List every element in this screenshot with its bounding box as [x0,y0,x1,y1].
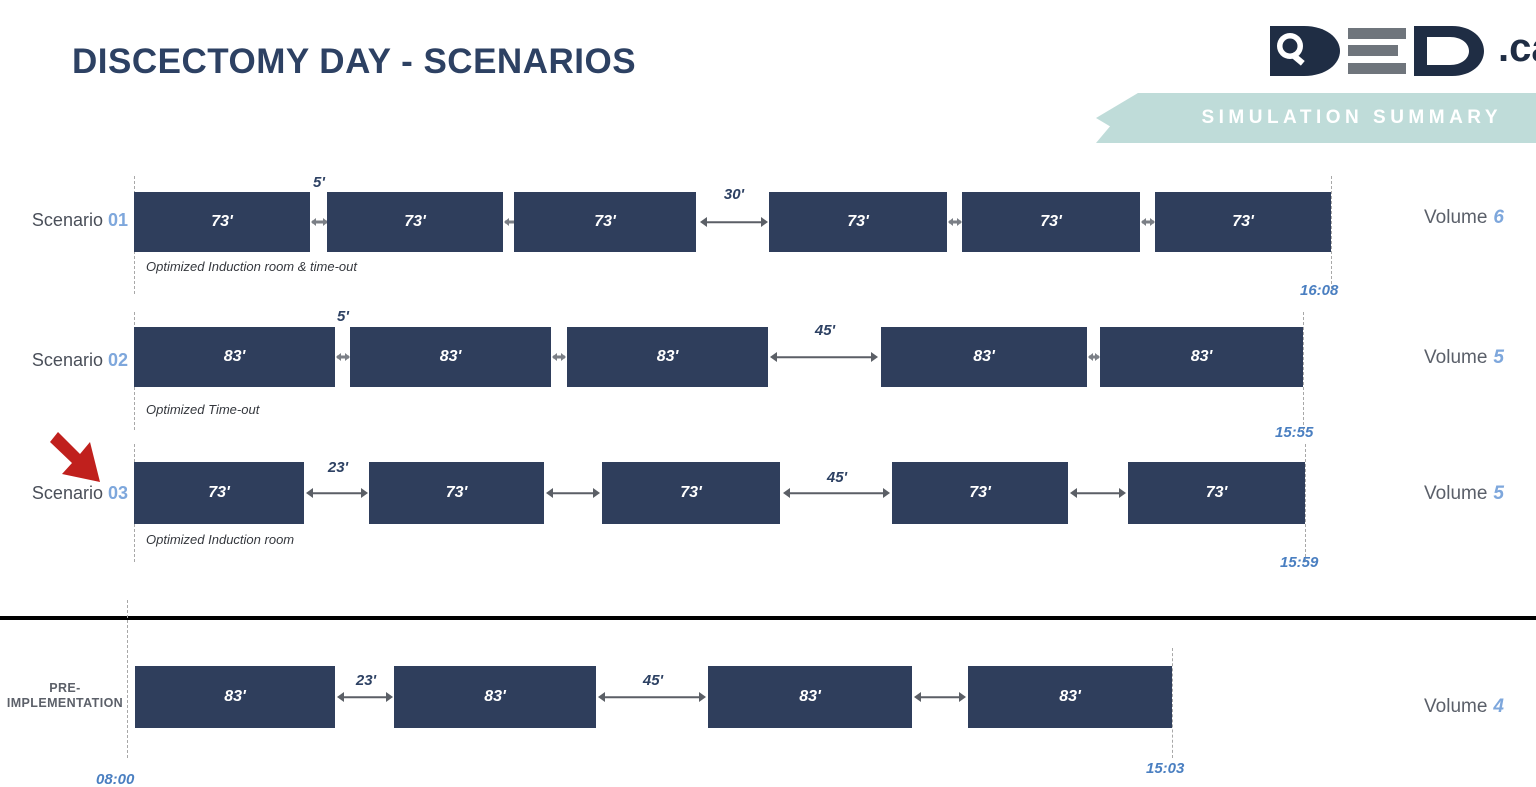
gap-connector [914,687,966,707]
end-guide-line-4 [1172,648,1173,758]
task-block[interactable]: 83' [968,666,1172,728]
gap-connector [552,347,566,367]
row-label-text: Scenario [32,210,103,230]
deo-care-logo: .care [1266,20,1506,78]
task-block[interactable]: 73' [892,462,1068,524]
gap-connector [336,347,350,367]
gap-label: 23' [341,672,391,689]
row-label-scenario-03: Scenario03 [0,483,128,504]
row-caption: Optimized Induction room [146,532,294,547]
start-guide-line-4 [127,600,128,758]
row-label-text: Scenario [32,483,103,503]
gap-connector [1070,483,1126,503]
volume-label: Volume6 [1424,207,1504,229]
end-timestamp: 15:55 [1275,424,1313,441]
end-timestamp: 16:08 [1300,282,1338,299]
gap-connector [783,483,890,503]
section-divider [0,616,1536,620]
task-block[interactable]: 73' [1155,192,1331,252]
gap-connector [337,687,393,707]
task-block[interactable]: 73' [769,192,947,252]
gap-label: 30' [706,186,762,203]
task-block[interactable]: 83' [350,327,551,387]
task-block[interactable]: 73' [369,462,544,524]
pre-label-line-2: IMPLEMENTATION [0,696,130,711]
end-guide-line-3 [1305,444,1306,562]
end-guide-line-1 [1331,176,1332,294]
task-block[interactable]: 73' [134,192,310,252]
end-timestamp: 15:59 [1280,554,1318,571]
gap-label: 45' [809,469,865,486]
task-block[interactable]: 73' [962,192,1140,252]
volume-value: 5 [1493,347,1504,368]
task-block[interactable]: 73' [327,192,503,252]
task-block[interactable]: 83' [708,666,912,728]
gap-label: 23' [312,459,364,476]
task-block[interactable]: 83' [881,327,1087,387]
volume-value: 4 [1493,696,1504,717]
gap-connector [1088,347,1100,367]
gap-label: 45' [625,672,681,689]
task-block[interactable]: 73' [1128,462,1305,524]
gap-connector [306,483,368,503]
volume-text: Volume [1424,347,1487,368]
row-label-scenario-02: Scenario02 [0,350,128,371]
slide-root: DISCECTOMY DAY - SCENARIOS .care SIMULAT… [0,0,1536,787]
gap-label: 45' [797,322,853,339]
ribbon-label: SIMULATION SUMMARY [1201,93,1502,143]
row-caption: Optimized Time-out [146,402,259,417]
volume-text: Volume [1424,483,1487,504]
task-block[interactable]: 83' [1100,327,1303,387]
gap-connector [546,483,600,503]
row-caption: Optimized Induction room & time-out [146,259,357,274]
gap-label: 5' [291,174,347,191]
end-guide-line-2 [1303,312,1304,430]
gap-connector [598,687,706,707]
volume-value: 5 [1493,483,1504,504]
task-block[interactable]: 73' [602,462,780,524]
gap-connector [1141,212,1155,232]
logo-mark [1266,20,1506,82]
row-label-scenario-01: Scenario01 [0,210,128,231]
row-label-number: 03 [108,483,128,503]
volume-label: Volume4 [1424,696,1504,718]
task-block[interactable]: 83' [134,327,335,387]
task-block[interactable]: 83' [394,666,596,728]
gap-connector [770,347,878,367]
end-timestamp: 15:03 [1146,760,1184,777]
volume-label: Volume5 [1424,347,1504,369]
volume-label: Volume5 [1424,483,1504,505]
volume-value: 6 [1493,207,1504,228]
gap-connector [311,212,328,232]
task-block[interactable]: 73' [134,462,304,524]
gap-connector [948,212,962,232]
task-block[interactable]: 83' [135,666,335,728]
gap-connector [700,212,768,232]
gap-label: 5' [318,308,368,325]
task-block[interactable]: 73' [514,192,696,252]
volume-text: Volume [1424,696,1487,717]
row-label-number: 01 [108,210,128,230]
page-title: DISCECTOMY DAY - SCENARIOS [72,42,636,82]
row-label-pre-implementation: PRE- IMPLEMENTATION [0,681,130,711]
task-block[interactable]: 83' [567,327,768,387]
pre-label-line-1: PRE- [0,681,130,696]
logo-care-text: .care [1498,26,1536,71]
row-label-text: Scenario [32,350,103,370]
row-label-number: 02 [108,350,128,370]
red-callout-arrow-icon [50,428,110,490]
volume-text: Volume [1424,207,1487,228]
start-timestamp: 08:00 [96,771,134,787]
